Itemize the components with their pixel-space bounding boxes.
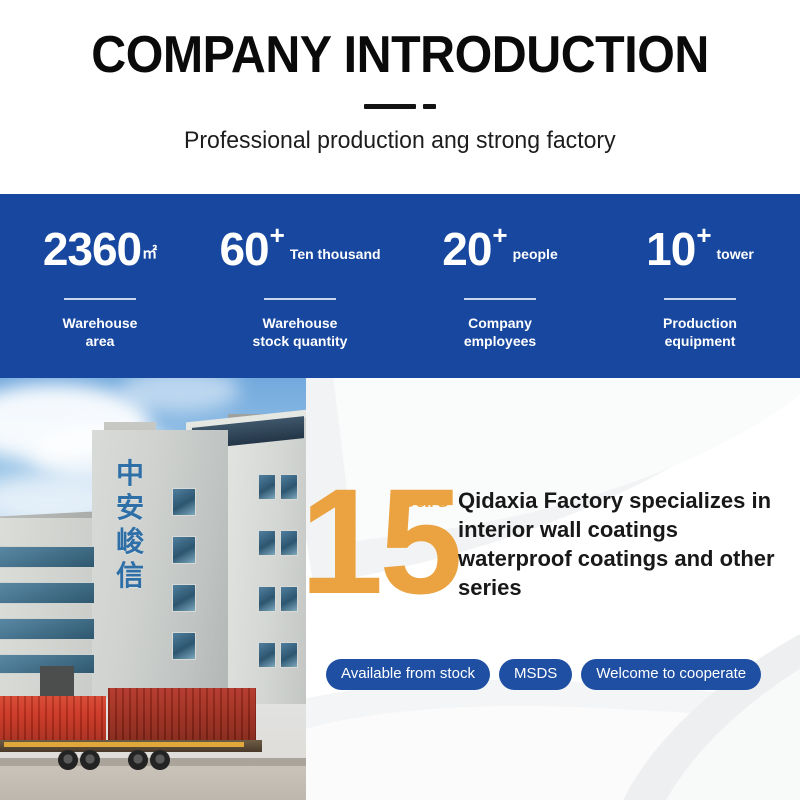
title-divider	[364, 104, 436, 109]
stat-value: 20 + people	[442, 226, 557, 276]
stat-company-employees: 20 + people Company employees	[400, 194, 600, 350]
window	[172, 488, 196, 516]
sign-character-4: 信	[116, 562, 144, 590]
sign-character-2: 安	[116, 494, 144, 522]
shipping-container	[0, 696, 106, 742]
page-subtitle: Professional production ang strong facto…	[184, 126, 616, 156]
about-section: 中 安 峻 信	[0, 378, 800, 800]
stat-rule	[64, 298, 136, 300]
window	[172, 584, 196, 612]
stat-rule	[664, 298, 736, 300]
window	[258, 530, 276, 556]
sign-character-3: 峻	[116, 528, 144, 556]
trailer-side-rail	[4, 742, 244, 747]
stat-label-line-2: equipment	[663, 332, 737, 350]
page-header: COMPANY INTRODUCTION Professional produc…	[0, 0, 800, 194]
stat-unit: tower	[717, 248, 754, 260]
window	[280, 474, 298, 500]
factory-photo: 中 安 峻 信	[0, 378, 306, 800]
container-ribs	[108, 688, 256, 742]
stat-label-line-1: Production	[663, 314, 737, 332]
window	[280, 642, 298, 668]
stat-number: 2360	[43, 226, 141, 272]
ground	[0, 766, 306, 800]
window	[258, 586, 276, 612]
stat-unit: people	[513, 248, 558, 260]
stat-label-line-1: Warehouse	[63, 314, 138, 332]
trailer-wheel	[150, 750, 170, 770]
stat-label: Warehouse area	[63, 314, 138, 350]
window	[280, 530, 298, 556]
trailer-wheel	[58, 750, 78, 770]
window-band	[0, 582, 94, 604]
sign-character-1: 中	[116, 460, 144, 488]
stat-label: Production equipment	[663, 314, 737, 350]
stat-warehouse-stock: 60 + Ten thousand Warehouse stock quanti…	[200, 194, 400, 350]
pill-available-from-stock[interactable]: Available from stock	[326, 659, 490, 690]
stat-value: 10 + tower	[646, 226, 754, 276]
stat-superscript: +	[270, 222, 285, 248]
trailer-wheel	[128, 750, 148, 770]
divider-dash-long	[364, 104, 416, 109]
window	[258, 474, 276, 500]
stat-number: 20	[442, 226, 491, 272]
stat-label-line-2: employees	[464, 332, 536, 350]
about-content-panel: 15 years Qidaxia Factory specializes in …	[306, 378, 800, 800]
shipping-container	[108, 688, 256, 742]
window	[258, 642, 276, 668]
stat-superscript: +	[696, 222, 711, 248]
window	[280, 586, 298, 612]
divider-dash-short	[423, 104, 436, 109]
stat-rule	[264, 298, 336, 300]
stat-label-line-1: Warehouse	[253, 314, 348, 332]
stat-rule	[464, 298, 536, 300]
window-band	[0, 618, 94, 640]
window	[172, 632, 196, 660]
page-title: COMPANY INTRODUCTION	[91, 0, 709, 84]
stat-label-line-2: area	[63, 332, 138, 350]
stat-number: 60	[219, 226, 268, 272]
stat-superscript: +	[492, 222, 507, 248]
stat-label: Company employees	[464, 314, 536, 350]
container-ribs	[0, 696, 106, 742]
background-swoosh	[306, 690, 800, 800]
background-swoosh	[582, 595, 800, 800]
company-introduction-page: COMPANY INTRODUCTION Professional produc…	[0, 0, 800, 800]
stat-value: 60 + Ten thousand	[219, 226, 380, 276]
window-band	[0, 546, 94, 568]
stat-warehouse-area: 2360 ㎡ Warehouse area	[0, 194, 200, 350]
stat-label: Warehouse stock quantity	[253, 314, 348, 350]
years-label: years	[390, 488, 449, 512]
building-sign: 中 安 峻 信	[108, 460, 152, 590]
window	[172, 536, 196, 564]
trailer-wheel	[80, 750, 100, 770]
stat-unit: Ten thousand	[290, 248, 381, 260]
stat-label-line-2: stock quantity	[253, 332, 348, 350]
pill-msds[interactable]: MSDS	[499, 659, 572, 690]
stat-unit: ㎡	[142, 248, 157, 260]
loading-dock-door	[40, 666, 74, 698]
pill-welcome-to-cooperate[interactable]: Welcome to cooperate	[581, 659, 761, 690]
about-description: Qidaxia Factory specializes in interior …	[458, 486, 794, 602]
stat-label-line-1: Company	[464, 314, 536, 332]
stats-banner: 2360 ㎡ Warehouse area 60 + Ten thousand …	[0, 194, 800, 378]
stat-value: 2360 ㎡	[43, 226, 157, 276]
stat-production-equipment: 10 + tower Production equipment	[600, 194, 800, 350]
stat-number: 10	[646, 226, 695, 272]
feature-pill-group: Available from stock MSDS Welcome to coo…	[326, 659, 761, 690]
